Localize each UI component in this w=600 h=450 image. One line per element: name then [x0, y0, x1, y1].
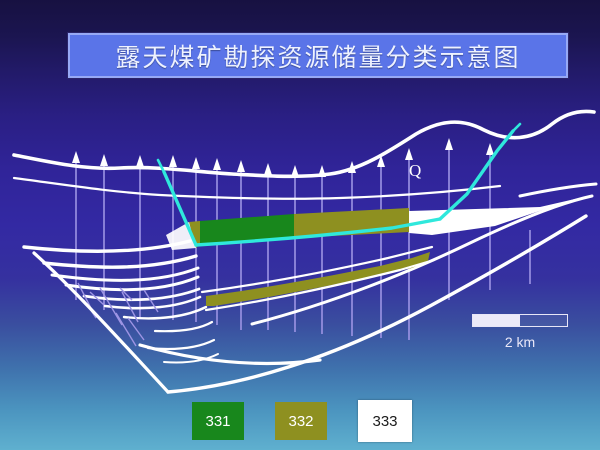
slide-canvas: 露天煤矿勘探资源储量分类示意图 [0, 0, 600, 450]
legend-label-331: 331 [205, 413, 230, 430]
legend-item-333: 333 [358, 400, 412, 442]
strata-fan-lines [24, 241, 218, 363]
scale-bar-label: 2 km [472, 334, 568, 350]
legend-item-332: 332 [275, 402, 327, 440]
stratum-label-q: Q [409, 161, 421, 181]
legend-item-331: 331 [192, 402, 244, 440]
exploration-boundary-cyan-top [158, 124, 520, 172]
legend-label-332: 332 [288, 413, 313, 430]
scale-bar-segment-light [473, 315, 520, 326]
legend-label-333: 333 [372, 413, 397, 430]
topographic-surface-line [14, 111, 594, 176]
legend: 331 332 333 桔灯勘探 [0, 398, 600, 446]
subsurface-marker-line [14, 178, 500, 199]
drill-hole-arrowheads [72, 138, 494, 177]
right-strata-lines [520, 184, 596, 196]
seam-332-lower-body [206, 252, 430, 306]
scale-bar [472, 314, 568, 327]
geological-cross-section [0, 0, 600, 450]
scale-bar-segment-dark [520, 315, 567, 326]
